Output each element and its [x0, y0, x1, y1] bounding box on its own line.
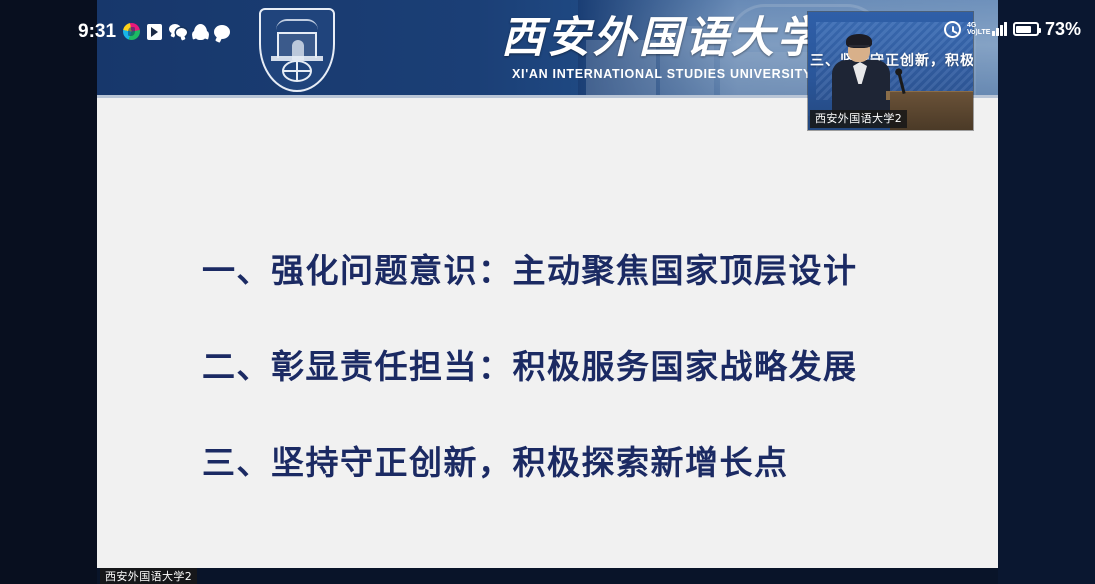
slide-bullet-2: 二、彰显责任担当：积极服务国家战略发展 — [202, 340, 858, 388]
meeting-screen-share-view: 西安外国语大学 XI'AN INTERNATIONAL STUDIES UNIV… — [0, 0, 1095, 584]
university-name-block: 西安外国语大学 XI'AN INTERNATIONAL STUDIES UNIV… — [497, 12, 827, 82]
pip-participant-name-tag: 西安外国语大学2 — [810, 110, 907, 128]
slide-bullet-1: 一、强化问题意识：主动聚焦国家顶层设计 — [202, 244, 858, 292]
university-name-cn: 西安外国语大学 — [497, 12, 827, 64]
crest-building-mark — [277, 32, 317, 58]
shared-screen-owner-name-tag: 西安外国语大学2 — [100, 568, 197, 584]
crest-globe-icon — [282, 60, 312, 82]
slide-bullet-3: 三、坚持守正创新，积极探索新增长点 — [202, 436, 789, 484]
letterbox-left — [0, 0, 97, 584]
pip-video-tile[interactable]: 三、坚持守正创新，积极探 西安外国语大学2 — [808, 12, 973, 130]
university-name-en: XI'AN INTERNATIONAL STUDIES UNIVERSITY — [497, 66, 827, 82]
slide-body: 一、强化问题意识：主动聚焦国家顶层设计 二、彰显责任担当：积极服务国家战略发展 … — [97, 98, 998, 568]
letterbox-right — [998, 0, 1095, 584]
pip-speaker-glasses-icon — [849, 45, 869, 52]
crest-arch-text-curve — [276, 19, 318, 30]
university-crest-icon — [259, 8, 335, 92]
